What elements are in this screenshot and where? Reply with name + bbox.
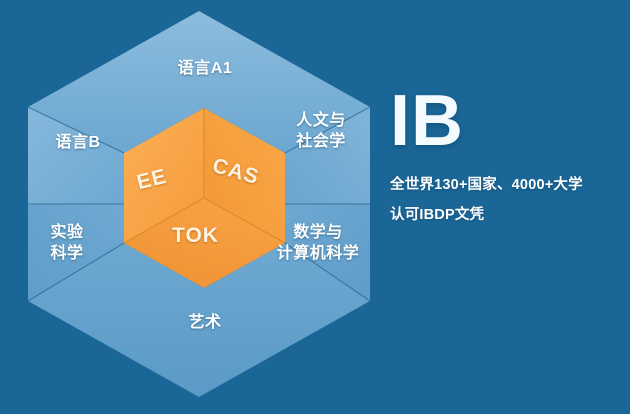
core-label-tok: TOK bbox=[172, 224, 219, 248]
ib-infographic: 语言A1 人文与 社会学 数学与 计算机科学 艺术 实验 科学 语言B EE C… bbox=[0, 0, 630, 414]
brand-subtitle: 全世界130+国家、4000+大学 认可IBDP文凭 bbox=[390, 170, 626, 230]
brand-subtitle-line-1: 全世界130+国家、4000+大学 bbox=[390, 170, 626, 200]
brand-subtitle-line-2: 认可IBDP文凭 bbox=[390, 200, 626, 230]
brand-block: IB 全世界130+国家、4000+大学 认可IBDP文凭 bbox=[390, 84, 626, 230]
brand-title: IB bbox=[390, 84, 626, 158]
